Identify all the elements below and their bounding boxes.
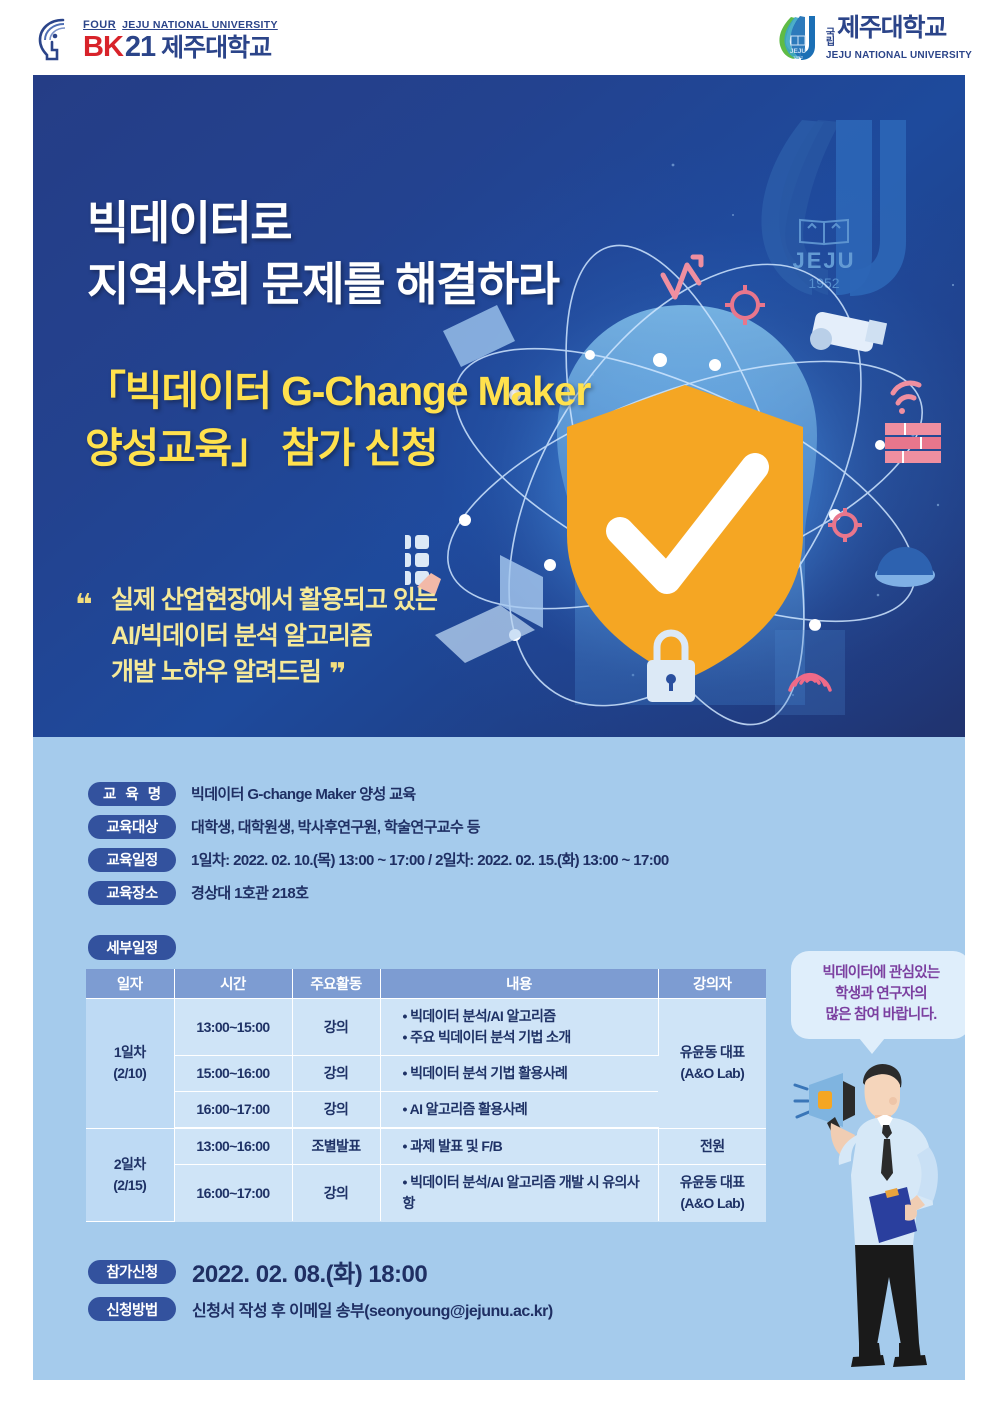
info-label-location: 교육장소 bbox=[88, 881, 176, 905]
cell-r1-content-line2: • 주요 빅데이터 분석 기법 소개 bbox=[403, 1027, 650, 1048]
bk21-bk-text: BK bbox=[83, 33, 123, 62]
cell-r2-activity: 강의 bbox=[292, 1056, 380, 1092]
info-label-schedule: 교육일정 bbox=[88, 848, 176, 872]
cell-r3-activity: 강의 bbox=[292, 1092, 380, 1129]
cell-r4-time: 13:00~16:00 bbox=[174, 1128, 292, 1165]
detail-schedule-table: 일자 시간 주요활동 내용 강의자 1일차 (2/10) 13:00~15:00… bbox=[86, 969, 766, 1222]
megaphone-sound-lines-icon bbox=[795, 1085, 809, 1117]
cell-lecturer-r4: 전원 bbox=[658, 1128, 766, 1165]
fingerprint-icon bbox=[775, 630, 845, 715]
bk21-university-en: JEJU NATIONAL UNIVERSITY bbox=[122, 20, 278, 31]
quote-close-icon: ❞ bbox=[329, 654, 345, 697]
bk21-logo: FOUR JEJU NATIONAL UNIVERSITY BK 21 제주대학… bbox=[33, 16, 278, 62]
cell-r1-time: 13:00~15:00 bbox=[174, 999, 292, 1056]
hero-subtitle-line2: 양성교육」 참가 신청 bbox=[85, 420, 590, 477]
cell-day1-line1: 1일차 bbox=[86, 1042, 174, 1063]
cell-day1: 1일차 (2/10) bbox=[86, 999, 174, 1129]
quote-open-icon: ❝ bbox=[75, 585, 91, 628]
cell-r2-content: • 빅데이터 분석 기법 활용사례 bbox=[380, 1056, 658, 1092]
apply-label-deadline: 참가신청 bbox=[88, 1260, 176, 1284]
info-value-location: 경상대 1호관 218호 bbox=[191, 882, 308, 903]
cell-lecturer-day1: 유윤동 대표 (A&O Lab) bbox=[658, 999, 766, 1129]
info-row-course-name: 교 육 명 빅데이터 G-change Maker 양성 교육 bbox=[88, 778, 888, 809]
cell-day1-line2: (2/10) bbox=[86, 1063, 174, 1084]
apply-row-method: 신청방법 신청서 작성 후 이메일 송부(seonyoung@jejunu.ac… bbox=[88, 1297, 553, 1321]
info-label-course-name: 교 육 명 bbox=[88, 782, 176, 806]
cell-r2-time: 15:00~16:00 bbox=[174, 1056, 292, 1092]
table-row: 1일차 (2/10) 13:00~15:00 강의 • 빅데이터 분석/AI 알… bbox=[86, 999, 766, 1056]
bk21-wordmark: FOUR JEJU NATIONAL UNIVERSITY BK 21 제주대학… bbox=[83, 20, 278, 62]
table-header-lecturer: 강의자 bbox=[658, 969, 766, 999]
megaphone-man-illustration bbox=[793, 1055, 965, 1380]
jnu-flame-j-icon: JEJU 1952 bbox=[775, 14, 819, 62]
bk21-four-text: FOUR bbox=[83, 20, 116, 31]
hero-quote-line3-wrap: 개발 노하우 알려드림❞ bbox=[111, 654, 437, 697]
table-header-activity: 주요활동 bbox=[292, 969, 380, 999]
apply-row-deadline: 참가신청 2022. 02. 08.(화) 18:00 bbox=[88, 1254, 553, 1289]
cell-lecturer-r5: 유윤동 대표 (A&O Lab) bbox=[658, 1165, 766, 1222]
speech-bubble-line1: 빅데이터에 관심있는 bbox=[801, 963, 961, 984]
table-row: 2일차 (2/15) 13:00~16:00 조별발표 • 과제 발표 및 F/… bbox=[86, 1128, 766, 1165]
table-header-content: 내용 bbox=[380, 969, 658, 999]
info-row-schedule: 교육일정 1일차: 2022. 02. 10.(목) 13:00 ~ 17:00… bbox=[88, 844, 888, 875]
table-header-row: 일자 시간 주요활동 내용 강의자 bbox=[86, 969, 766, 999]
cell-r1-content: • 빅데이터 분석/AI 알고리즘 • 주요 빅데이터 분석 기법 소개 bbox=[380, 999, 658, 1056]
info-label-audience: 교육대상 bbox=[88, 815, 176, 839]
jnu-name-kr: 제주대학교 bbox=[837, 16, 946, 41]
top-logo-bar: FOUR JEJU NATIONAL UNIVERSITY BK 21 제주대학… bbox=[0, 0, 1000, 75]
cell-r4-content: • 과제 발표 및 F/B bbox=[380, 1128, 658, 1165]
jnu-wordmark: 국 립 제주대학교 JEJU NATIONAL UNIVERSITY bbox=[826, 16, 972, 61]
table-header-date: 일자 bbox=[86, 969, 174, 999]
apply-label-method: 신청방법 bbox=[88, 1297, 176, 1321]
cell-day2-line1: 2일차 bbox=[86, 1154, 174, 1175]
cell-r3-time: 16:00~17:00 bbox=[174, 1092, 292, 1129]
bk21-head-icon bbox=[33, 16, 79, 62]
jnu-prefix-kr: 국 립 bbox=[826, 29, 835, 48]
hero-banner: JEJU 1952 bbox=[33, 75, 965, 737]
svg-text:1952: 1952 bbox=[793, 55, 804, 60]
course-info-list: 교 육 명 빅데이터 G-change Maker 양성 교육 교육대상 대학생… bbox=[88, 778, 888, 910]
speech-bubble-line2: 학생과 연구자의 bbox=[801, 984, 961, 1005]
cell-r5-time: 16:00~17:00 bbox=[174, 1165, 292, 1222]
cell-day2-line2: (2/15) bbox=[86, 1175, 174, 1196]
cell-r1-content-line1: • 빅데이터 분석/AI 알고리즘 bbox=[403, 1006, 650, 1027]
hero-quote-line3: 개발 노하우 알려드림 bbox=[111, 658, 321, 686]
application-info-list: 참가신청 2022. 02. 08.(화) 18:00 신청방법 신청서 작성 … bbox=[88, 1254, 553, 1329]
cell-r3-content: • AI 알고리즘 활용사례 bbox=[380, 1092, 658, 1129]
hero-quote-line2: AI/빅데이터 분석 알고리즘 bbox=[111, 619, 437, 655]
table-header-time: 시간 bbox=[174, 969, 292, 999]
laptop-icon bbox=[435, 555, 543, 663]
wifi-icon bbox=[893, 383, 919, 414]
info-row-location: 교육장소 경상대 1호관 218호 bbox=[88, 877, 888, 908]
cell-lecturer-r5-line1: 유윤동 대표 bbox=[659, 1172, 767, 1193]
apply-value-deadline: 2022. 02. 08.(화) 18:00 bbox=[192, 1254, 427, 1289]
cell-day2: 2일차 (2/15) bbox=[86, 1128, 174, 1221]
speech-bubble-line3: 많은 참여 바랍니다. bbox=[801, 1005, 961, 1026]
bk21-num-text: 21 bbox=[125, 33, 155, 62]
cell-lecturer-r5-line2: (A&O Lab) bbox=[659, 1193, 767, 1214]
poster-body: 교 육 명 빅데이터 G-change Maker 양성 교육 교육대상 대학생… bbox=[33, 737, 965, 1380]
cell-r5-activity: 강의 bbox=[292, 1165, 380, 1222]
cell-r1-activity: 강의 bbox=[292, 999, 380, 1056]
apply-value-method: 신청서 작성 후 이메일 송부(seonyoung@jejunu.ac.kr) bbox=[192, 1297, 553, 1321]
jnu-prefix-kr-2: 립 bbox=[826, 38, 835, 48]
section-label-detail-schedule: 세부일정 bbox=[88, 935, 176, 960]
hero-title-line1: 빅데이터로 bbox=[87, 193, 559, 254]
info-value-audience: 대학생, 대학원생, 박사후연구원, 학술연구교수 등 bbox=[191, 816, 480, 837]
bk21-university-kr: 제주대학교 bbox=[161, 36, 271, 61]
hero-quote-block: ❝ 실제 산업현장에서 활용되고 있는 AI/빅데이터 분석 알고리즘 개발 노… bbox=[111, 583, 437, 697]
cell-lecturer-day1-line2: (A&O Lab) bbox=[659, 1063, 767, 1084]
firewall-icon bbox=[885, 423, 941, 463]
hero-subtitle: 「빅데이터 G-Change Maker 양성교육」 참가 신청 bbox=[85, 363, 590, 476]
cell-lecturer-day1-line1: 유윤동 대표 bbox=[659, 1042, 767, 1063]
svg-text:JEJU: JEJU bbox=[790, 48, 807, 55]
table-row: 16:00~17:00 강의 • 빅데이터 분석/AI 알고리즘 개발 시 유의… bbox=[86, 1165, 766, 1222]
info-value-course-name: 빅데이터 G-change Maker 양성 교육 bbox=[191, 783, 416, 804]
cell-r5-content: • 빅데이터 분석/AI 알고리즘 개발 시 유의사항 bbox=[380, 1165, 658, 1222]
hero-title: 빅데이터로 지역사회 문제를 해결하라 bbox=[87, 193, 559, 314]
info-row-audience: 교육대상 대학생, 대학원생, 박사후연구원, 학술연구교수 등 bbox=[88, 811, 888, 842]
hero-title-line2: 지역사회 문제를 해결하라 bbox=[87, 254, 559, 315]
cell-r4-activity: 조별발표 bbox=[292, 1128, 380, 1165]
jnu-name-en: JEJU NATIONAL UNIVERSITY bbox=[826, 51, 972, 61]
info-value-schedule: 1일차: 2022. 02. 10.(목) 13:00 ~ 17:00 / 2일… bbox=[191, 849, 669, 870]
hero-quote-line1: 실제 산업현장에서 활용되고 있는 bbox=[111, 583, 437, 619]
speech-bubble: 빅데이터에 관심있는 학생과 연구자의 많은 참여 바랍니다. bbox=[791, 951, 965, 1039]
jeju-national-university-logo: JEJU 1952 국 립 제주대학교 JEJU NATIONAL UNIVER… bbox=[775, 14, 972, 62]
hero-subtitle-line1: 「빅데이터 G-Change Maker bbox=[85, 363, 590, 420]
